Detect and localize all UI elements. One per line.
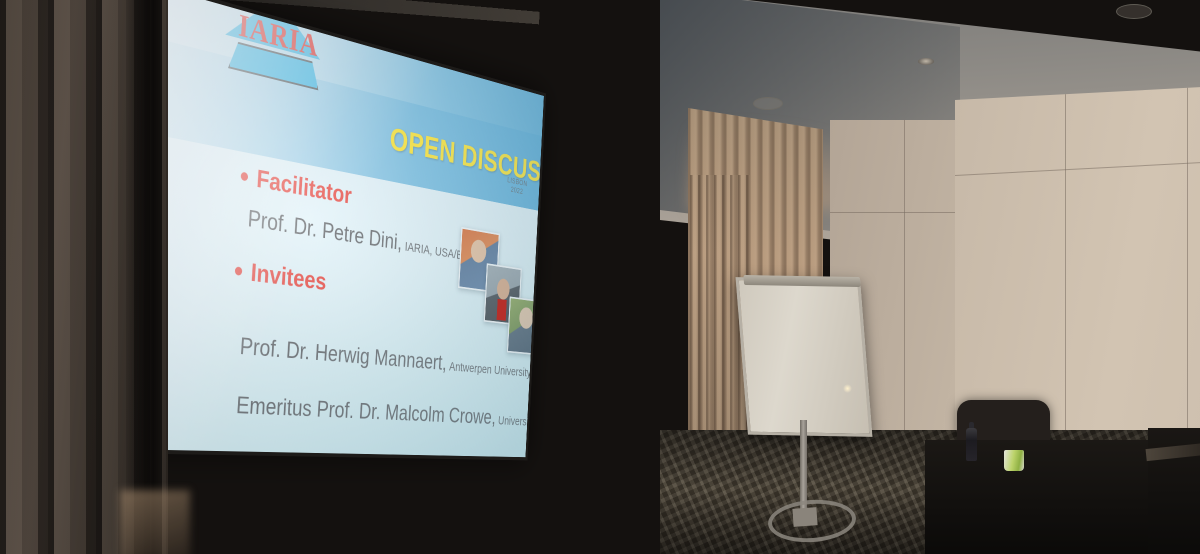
presentation-slide: IARIA OPEN DISCUSSION LISBON 2022 Facili…	[138, 0, 543, 457]
downlight-icon	[918, 58, 934, 65]
flipchart-clip	[743, 275, 860, 287]
sprinkler-icon	[753, 97, 783, 110]
entry-affiliation: University of the West of Scotland, UK	[498, 414, 544, 433]
portrait-photo	[507, 296, 544, 355]
entry-name: Emeritus Prof. Dr. Malcolm Crowe,	[235, 392, 496, 429]
entry-affiliation: Antwerpen University, Belgium	[449, 359, 544, 382]
entry-name: Prof. Dr. Petre Dini,	[247, 205, 403, 255]
cup	[1004, 450, 1024, 471]
panel-seam	[1187, 88, 1188, 468]
bullet-dot-icon	[235, 266, 243, 275]
bullet-invitees: Invitees	[234, 256, 327, 296]
entry-invitee-0: Prof. Dr. Herwig Mannaert, Antwerpen Uni…	[239, 333, 544, 385]
bullet-label-invitees: Invitees	[250, 258, 327, 296]
panel-seam	[904, 120, 905, 480]
bullet-label-facilitator: Facilitator	[256, 164, 353, 210]
flipchart-board	[736, 277, 873, 437]
entry-facilitator-0: Prof. Dr. Petre Dini, IARIA, USA/EU	[247, 205, 470, 266]
flipchart-base-block	[792, 507, 817, 527]
sprinkler-icon	[1116, 4, 1152, 19]
entry-name: Prof. Dr. Herwig Mannaert,	[239, 333, 447, 375]
conference-room-scene: IARIA OPEN DISCUSSION LISBON 2022 Facili…	[0, 0, 1200, 554]
panel-seam	[955, 160, 1200, 176]
bullet-dot-icon	[241, 172, 249, 182]
screen-frame: IARIA OPEN DISCUSSION LISBON 2022 Facili…	[135, 0, 547, 460]
projection-screen: IARIA OPEN DISCUSSION LISBON 2022 Facili…	[135, 0, 547, 460]
panel-seam	[1065, 94, 1066, 474]
curtain-bottom-light	[120, 490, 190, 554]
flipchart-highlight	[843, 384, 852, 393]
curtain-dark-edge	[126, 0, 162, 554]
water-bottle	[966, 428, 977, 461]
entry-invitee-1: Emeritus Prof. Dr. Malcolm Crowe, Univer…	[235, 392, 544, 435]
